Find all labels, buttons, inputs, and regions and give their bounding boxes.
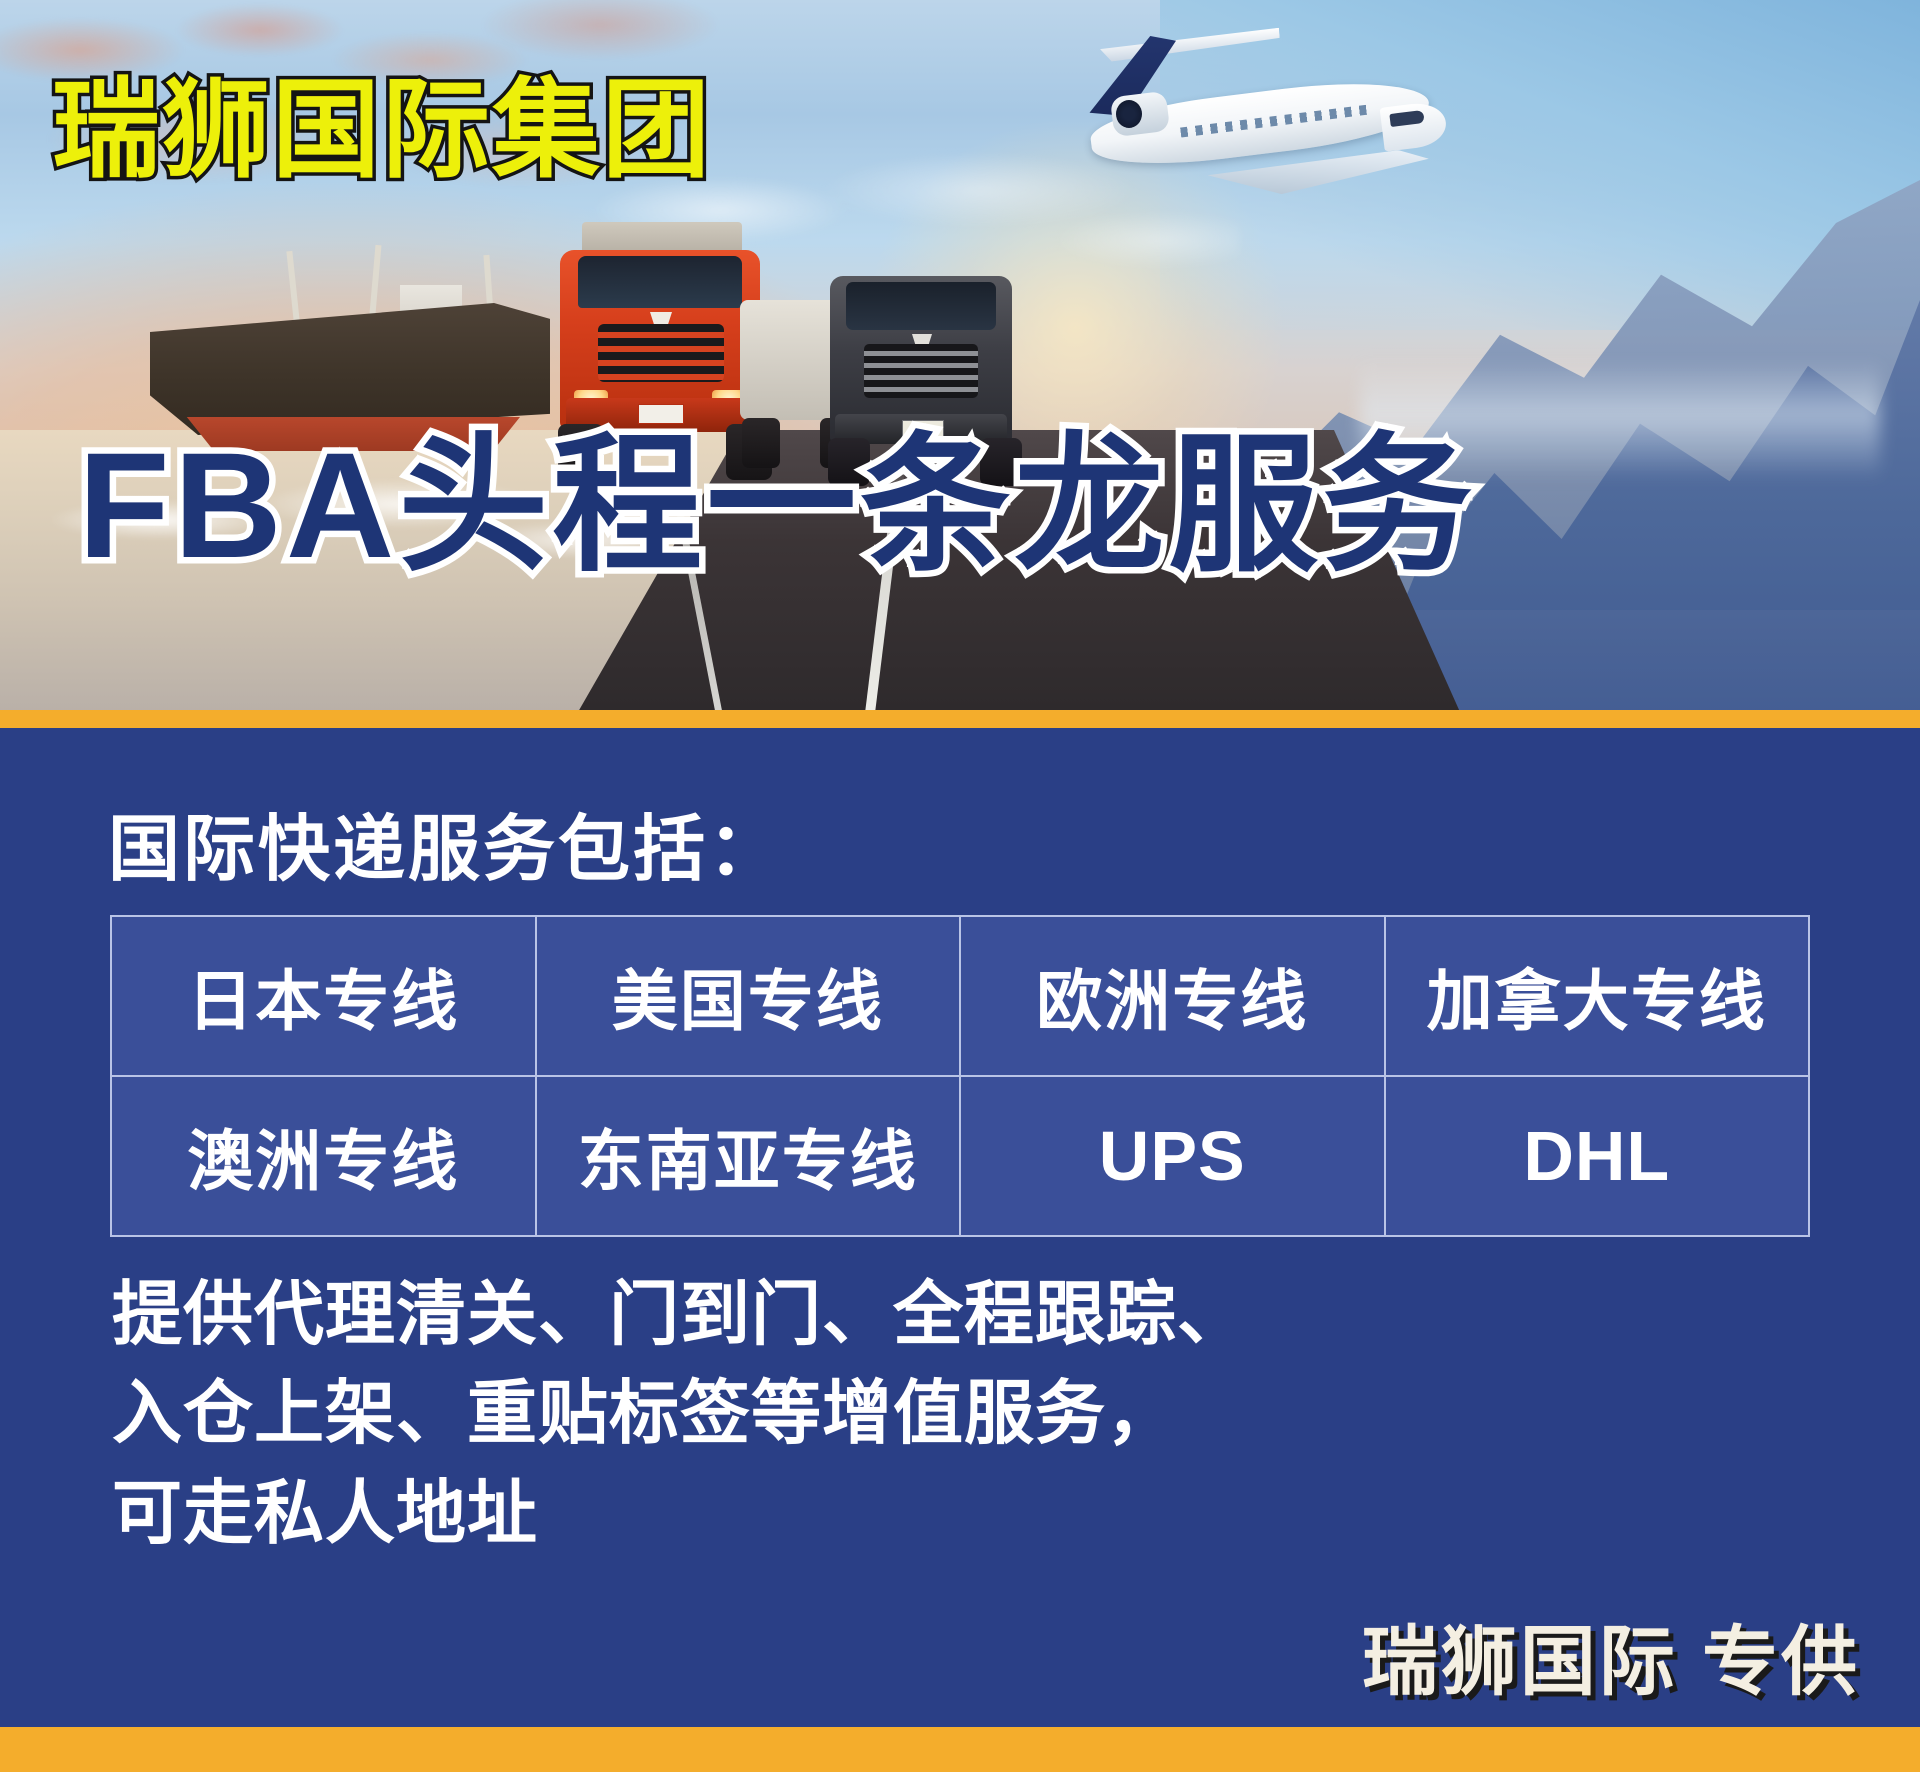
footer-signature: 瑞狮国际 专供	[1362, 1600, 1860, 1710]
orange-divider	[0, 710, 1920, 728]
service-cell-ups[interactable]: UPS	[960, 1076, 1385, 1236]
truck-windshield	[846, 282, 996, 330]
body-line-1: 提供代理清关、门到门、全程跟踪、	[112, 1265, 1248, 1364]
company-logo-text: 瑞狮国际集团	[52, 76, 712, 184]
value-added-services-text: 提供代理清关、门到门、全程跟踪、 入仓上架、重贴标签等增值服务， 可走私人地址	[112, 1265, 1248, 1563]
truck-grille	[864, 344, 978, 398]
truck-windshield	[578, 256, 742, 308]
ship-hull	[150, 303, 550, 435]
airplane-nose	[1380, 100, 1449, 151]
table-row: 澳洲专线 东南亚专线 UPS DHL	[111, 1076, 1809, 1236]
airplane-horizontal-stabilizer	[1099, 28, 1280, 63]
service-lines-table: 日本专线 美国专线 欧洲专线 加拿大专线 澳洲专线 东南亚专线 UPS DHL	[110, 915, 1810, 1237]
service-cell-dhl[interactable]: DHL	[1385, 1076, 1810, 1236]
service-cell-australia[interactable]: 澳洲专线	[111, 1076, 536, 1236]
panel-subtitle: 国际快递服务包括：	[108, 790, 783, 895]
service-cell-usa[interactable]: 美国专线	[536, 916, 961, 1076]
fba-logistics-banner: 瑞狮国际集团 FBA头程一条龙服务 国际快递服务包括： 日本专线 美国专线 欧洲…	[0, 0, 1920, 1772]
truck-grille	[598, 324, 724, 382]
service-cell-europe[interactable]: 欧洲专线	[960, 916, 1385, 1076]
ship-crane	[286, 251, 299, 321]
bottom-orange-bar	[0, 1727, 1920, 1772]
body-line-3: 可走私人地址	[112, 1464, 1248, 1563]
airplane-icon	[1030, 30, 1450, 230]
table-row: 日本专线 美国专线 欧洲专线 加拿大专线	[111, 916, 1809, 1076]
body-line-2: 入仓上架、重贴标签等增值服务，	[112, 1364, 1248, 1463]
airplane-engine-intake	[1116, 100, 1142, 128]
service-cell-japan[interactable]: 日本专线	[111, 916, 536, 1076]
hero-headline: FBA头程一条龙服务	[78, 430, 1476, 580]
service-cell-canada[interactable]: 加拿大专线	[1385, 916, 1810, 1076]
service-cell-southeastasia[interactable]: 东南亚专线	[536, 1076, 961, 1236]
